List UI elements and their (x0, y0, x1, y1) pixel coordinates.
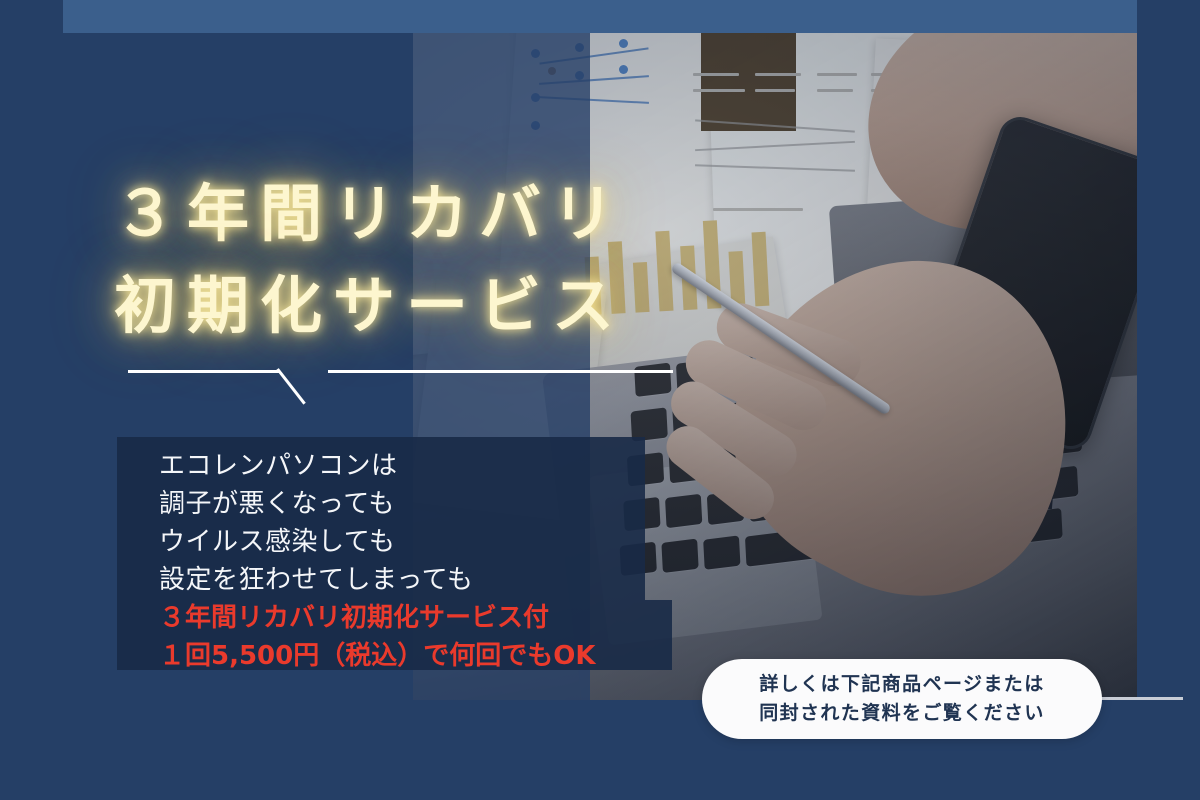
headline: ３年間リカバリ 初期化サービス (114, 168, 854, 352)
decor-segment-left (128, 370, 280, 373)
callout-line-1: 詳しくは下記商品ページまたは (759, 670, 1045, 699)
body-highlight-line: １回5,500円（税込）で何回でもOK (159, 637, 779, 675)
body-line: 設定を狂わせてしまっても (159, 561, 779, 599)
body-line: 調子が悪くなっても (159, 485, 779, 523)
banner-canvas: ３年間リカバリ 初期化サービス エコレンパソコンは 調子が悪くなっても ウイルス… (0, 0, 1200, 800)
callout-pill[interactable]: 詳しくは下記商品ページまたは 同封された資料をご覧ください (702, 659, 1102, 739)
decor-diagonal-tick (276, 368, 305, 405)
decorative-rule (128, 370, 673, 418)
callout-line-2: 同封された資料をご覧ください (759, 699, 1045, 728)
body-highlight-line: ３年間リカバリ初期化サービス付 (159, 599, 779, 637)
body-line: ウイルス感染しても (159, 523, 779, 561)
headline-line-1: ３年間リカバリ (114, 177, 625, 250)
body-line: エコレンパソコンは (159, 447, 779, 485)
body-text-block: エコレンパソコンは 調子が悪くなっても ウイルス感染しても 設定を狂わせてしまっ… (159, 447, 779, 675)
headline-line-2: 初期化サービス (114, 260, 854, 352)
top-accent-bar (63, 0, 1137, 33)
decor-segment-right (328, 370, 673, 373)
callout-text: 詳しくは下記商品ページまたは 同封された資料をご覧ください (759, 670, 1045, 728)
